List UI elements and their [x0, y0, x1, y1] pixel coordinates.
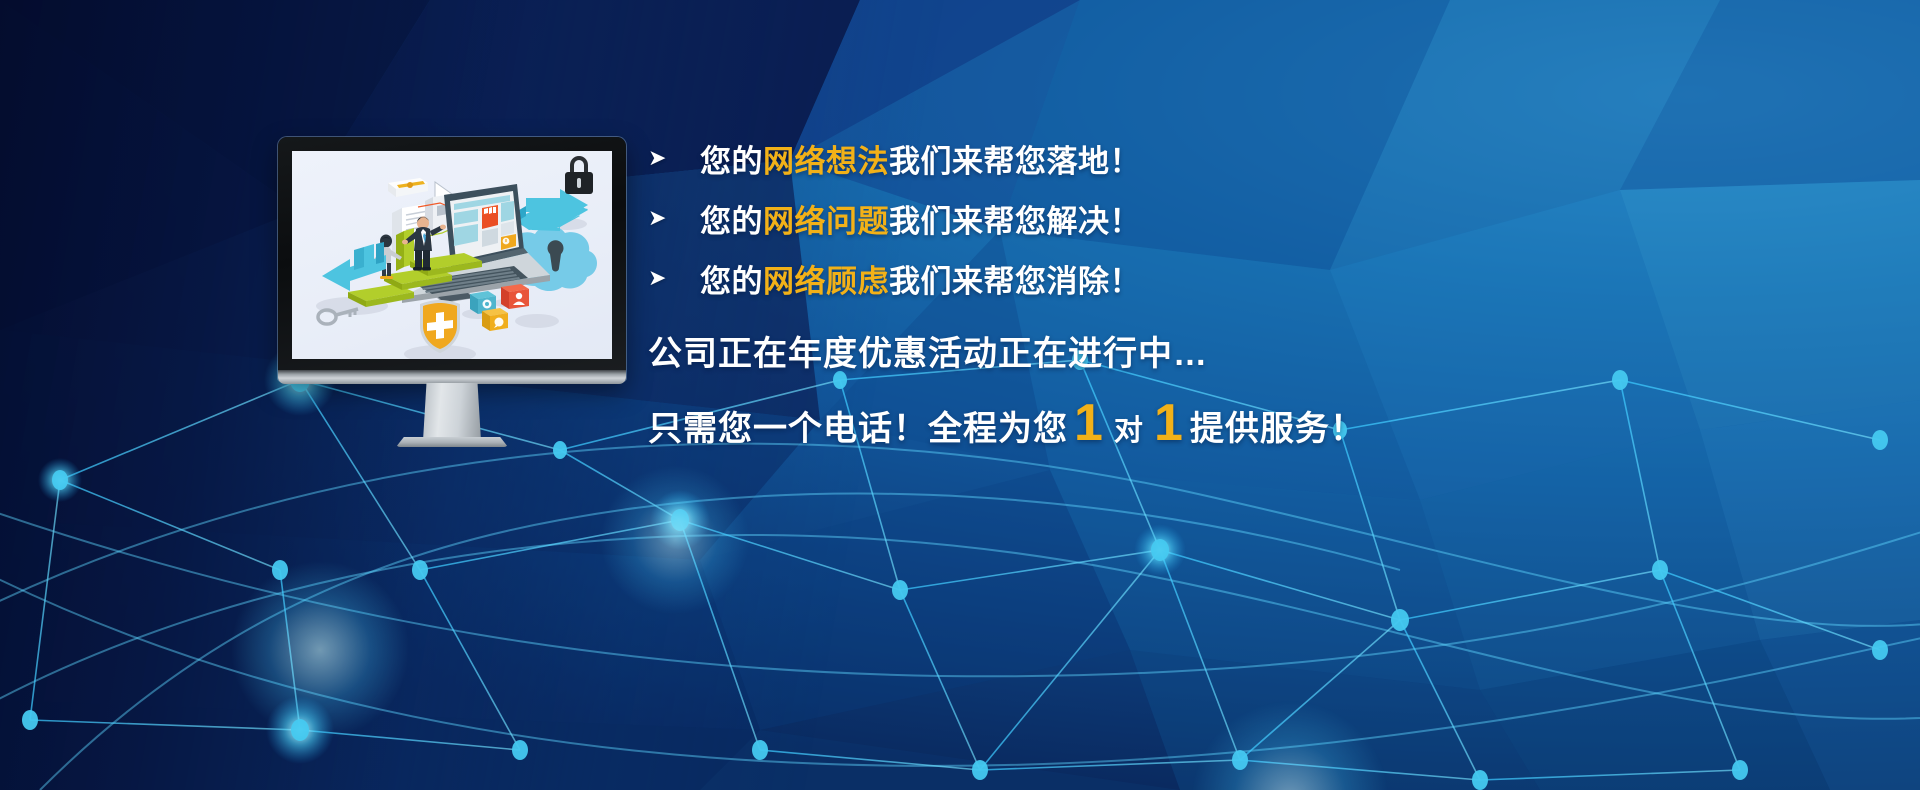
- bullet-line-3-text: 您的网络顾虑我们来帮您消除！: [700, 256, 1141, 301]
- cta-number-two: 1: [1148, 403, 1190, 445]
- bullet-3-suffix: 我们来帮您消除！: [889, 264, 1141, 299]
- cta-middle: 对: [1110, 407, 1148, 449]
- bullet-line-1: ➤ 您的网络想法我们来帮您落地！: [648, 128, 1428, 188]
- monitor-neck: [423, 383, 481, 441]
- bullet-2-prefix: 您的: [700, 204, 763, 239]
- chat-app-icon: [482, 308, 508, 331]
- arrow-bullet-icon: ➤: [648, 267, 700, 289]
- cta-lead: 只需您一个电话！全程为您: [648, 401, 1068, 450]
- monitor-foot: [396, 437, 508, 447]
- bullet-1-highlight: 网络想法: [763, 144, 889, 179]
- arrow-bullet-icon: ➤: [648, 147, 700, 169]
- bullet-3-prefix: 您的: [700, 264, 763, 299]
- padlock-icon: [565, 156, 593, 194]
- user-app-icon: [501, 284, 529, 309]
- monitor-screen: [292, 151, 612, 359]
- cta-number-one: 1: [1068, 403, 1110, 445]
- promo-line: 公司正在年度优惠活动正在进行中…: [648, 326, 1428, 375]
- banner-copy-block: ➤ 您的网络想法我们来帮您落地！ ➤ 您的网络问题我们来帮您解决！ ➤ 您的网络…: [648, 128, 1428, 450]
- bullet-3-highlight: 网络顾虑: [763, 264, 889, 299]
- bullet-2-highlight: 网络问题: [763, 204, 889, 239]
- shield-cross-icon: [420, 300, 460, 353]
- cyan-arrow-left: [322, 242, 386, 291]
- bullet-line-3: ➤ 您的网络顾虑我们来帮您消除！: [648, 248, 1428, 308]
- gold-card-icon: [388, 178, 428, 197]
- promo-banner: ➤ 您的网络想法我们来帮您落地！ ➤ 您的网络问题我们来帮您解决！ ➤ 您的网络…: [0, 0, 1920, 790]
- bullet-1-suffix: 我们来帮您落地！: [889, 144, 1141, 179]
- bullet-2-suffix: 我们来帮您解决！: [889, 204, 1141, 239]
- bullet-line-1-text: 您的网络想法我们来帮您落地！: [700, 136, 1141, 181]
- arrow-bullet-icon: ➤: [648, 207, 700, 229]
- bullet-1-prefix: 您的: [700, 144, 763, 179]
- apple-logo-icon: [447, 373, 457, 384]
- cta-line: 只需您一个电话！全程为您 1 对 1 提供服务！: [648, 401, 1428, 450]
- bullet-line-2: ➤ 您的网络问题我们来帮您解决！: [648, 188, 1428, 248]
- bullet-line-2-text: 您的网络问题我们来帮您解决！: [700, 196, 1141, 241]
- cta-tail: 提供服务！: [1190, 401, 1365, 450]
- imac-monitor-illustration: [278, 137, 626, 447]
